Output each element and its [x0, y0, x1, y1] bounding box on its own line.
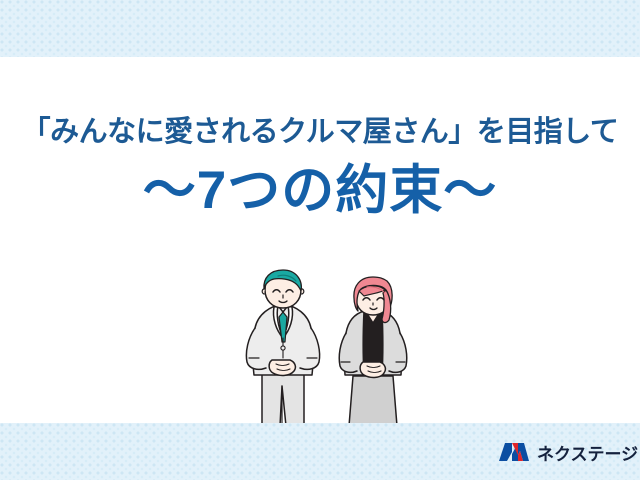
page-title-primary: 「みんなに愛されるクルマ屋さん」を目指して	[0, 112, 640, 152]
bowing-staff-illustration	[228, 268, 418, 426]
female-staff-figure	[339, 277, 407, 426]
staff-illustration-svg	[228, 268, 418, 426]
page-title-secondary: 〜7つの約束〜	[0, 160, 640, 222]
top-dotted-band	[0, 0, 640, 57]
headline-block: 「みんなに愛されるクルマ屋さん」を目指して 〜7つの約束〜	[0, 112, 640, 222]
brand-logo: ネクステージ	[498, 436, 638, 468]
slide-canvas: 「みんなに愛されるクルマ屋さん」を目指して 〜7つの約束〜	[0, 0, 640, 480]
nextage-n-mark-icon	[498, 440, 530, 464]
male-staff-figure	[246, 270, 319, 426]
brand-name-label: ネクステージ	[537, 440, 638, 465]
